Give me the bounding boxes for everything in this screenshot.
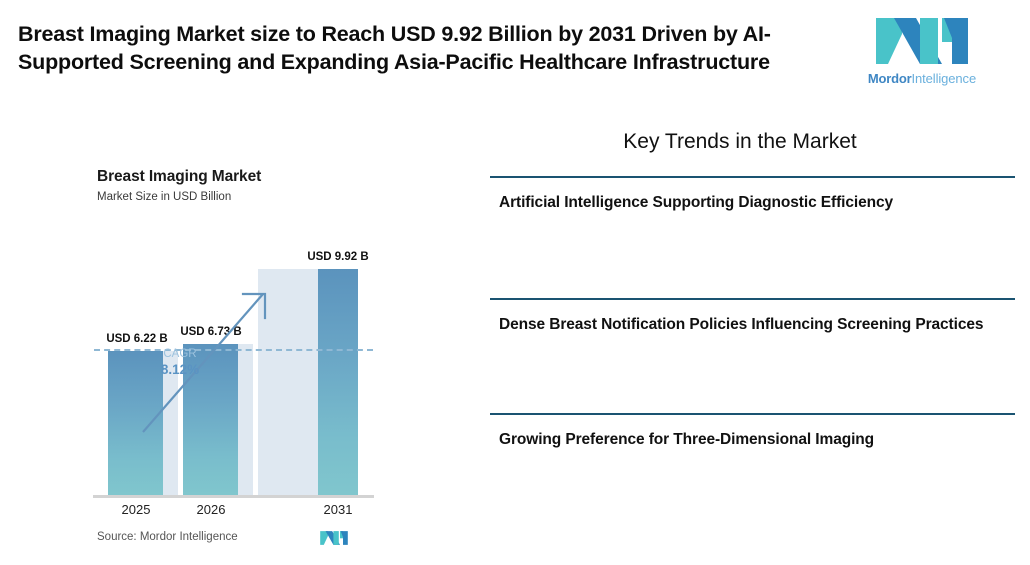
key-trends-panel: Key Trends in the Market Artificial Inte… — [490, 130, 1015, 493]
chart-source-row: Source: Mordor Intelligence — [97, 528, 377, 552]
chart-value-label-2031: USD 9.92 B — [288, 251, 388, 263]
brand-wordmark: MordorIntelligence — [866, 72, 978, 85]
chart-bar-2031 — [318, 269, 358, 495]
trend-item-3-text: Growing Preference for Three-Dimensional… — [499, 429, 1007, 450]
trend-item-1-text: Artificial Intelligence Supporting Diagn… — [499, 192, 1007, 213]
chart-source-text: Source: Mordor Intelligence — [97, 531, 238, 543]
chart-value-label-2026: USD 6.73 B — [161, 326, 261, 338]
trend-item-2-text: Dense Breast Notification Policies Influ… — [499, 314, 1007, 335]
market-size-bar-chart: Breast Imaging Market Market Size in USD… — [0, 150, 470, 565]
brand-wordmark-bold: Mordor — [868, 71, 912, 86]
cagr-label: CAGR — [148, 348, 212, 362]
mordor-intelligence-mi-monogram-small-icon — [319, 528, 349, 548]
chart-axis-baseline — [93, 495, 374, 498]
trend-item-1[interactable]: Artificial Intelligence Supporting Diagn… — [490, 176, 1015, 298]
brand-wordmark-regular: Intelligence — [912, 71, 977, 86]
cagr-annotation: CAGR 8.12% — [148, 348, 212, 377]
chart-tick-label-2026: 2026 — [161, 502, 261, 517]
mordor-intelligence-logo: MordorIntelligence — [866, 12, 978, 96]
mordor-intelligence-mi-monogram-icon — [872, 12, 972, 70]
chart-tick-label-2031: 2031 — [288, 502, 388, 517]
page-title: Breast Imaging Market size to Reach USD … — [18, 20, 838, 77]
cagr-value: 8.12% — [148, 362, 212, 378]
trend-item-3[interactable]: Growing Preference for Three-Dimensional… — [490, 413, 1015, 493]
chart-plot-area: USD 6.22 B USD 6.73 B USD 9.92 B 2025 20… — [95, 200, 372, 495]
chart-title: Breast Imaging Market — [97, 168, 261, 186]
chart-reference-dashed-line — [94, 349, 373, 351]
trend-item-2[interactable]: Dense Breast Notification Policies Influ… — [490, 298, 1015, 413]
key-trends-heading: Key Trends in the Market — [490, 130, 1015, 154]
